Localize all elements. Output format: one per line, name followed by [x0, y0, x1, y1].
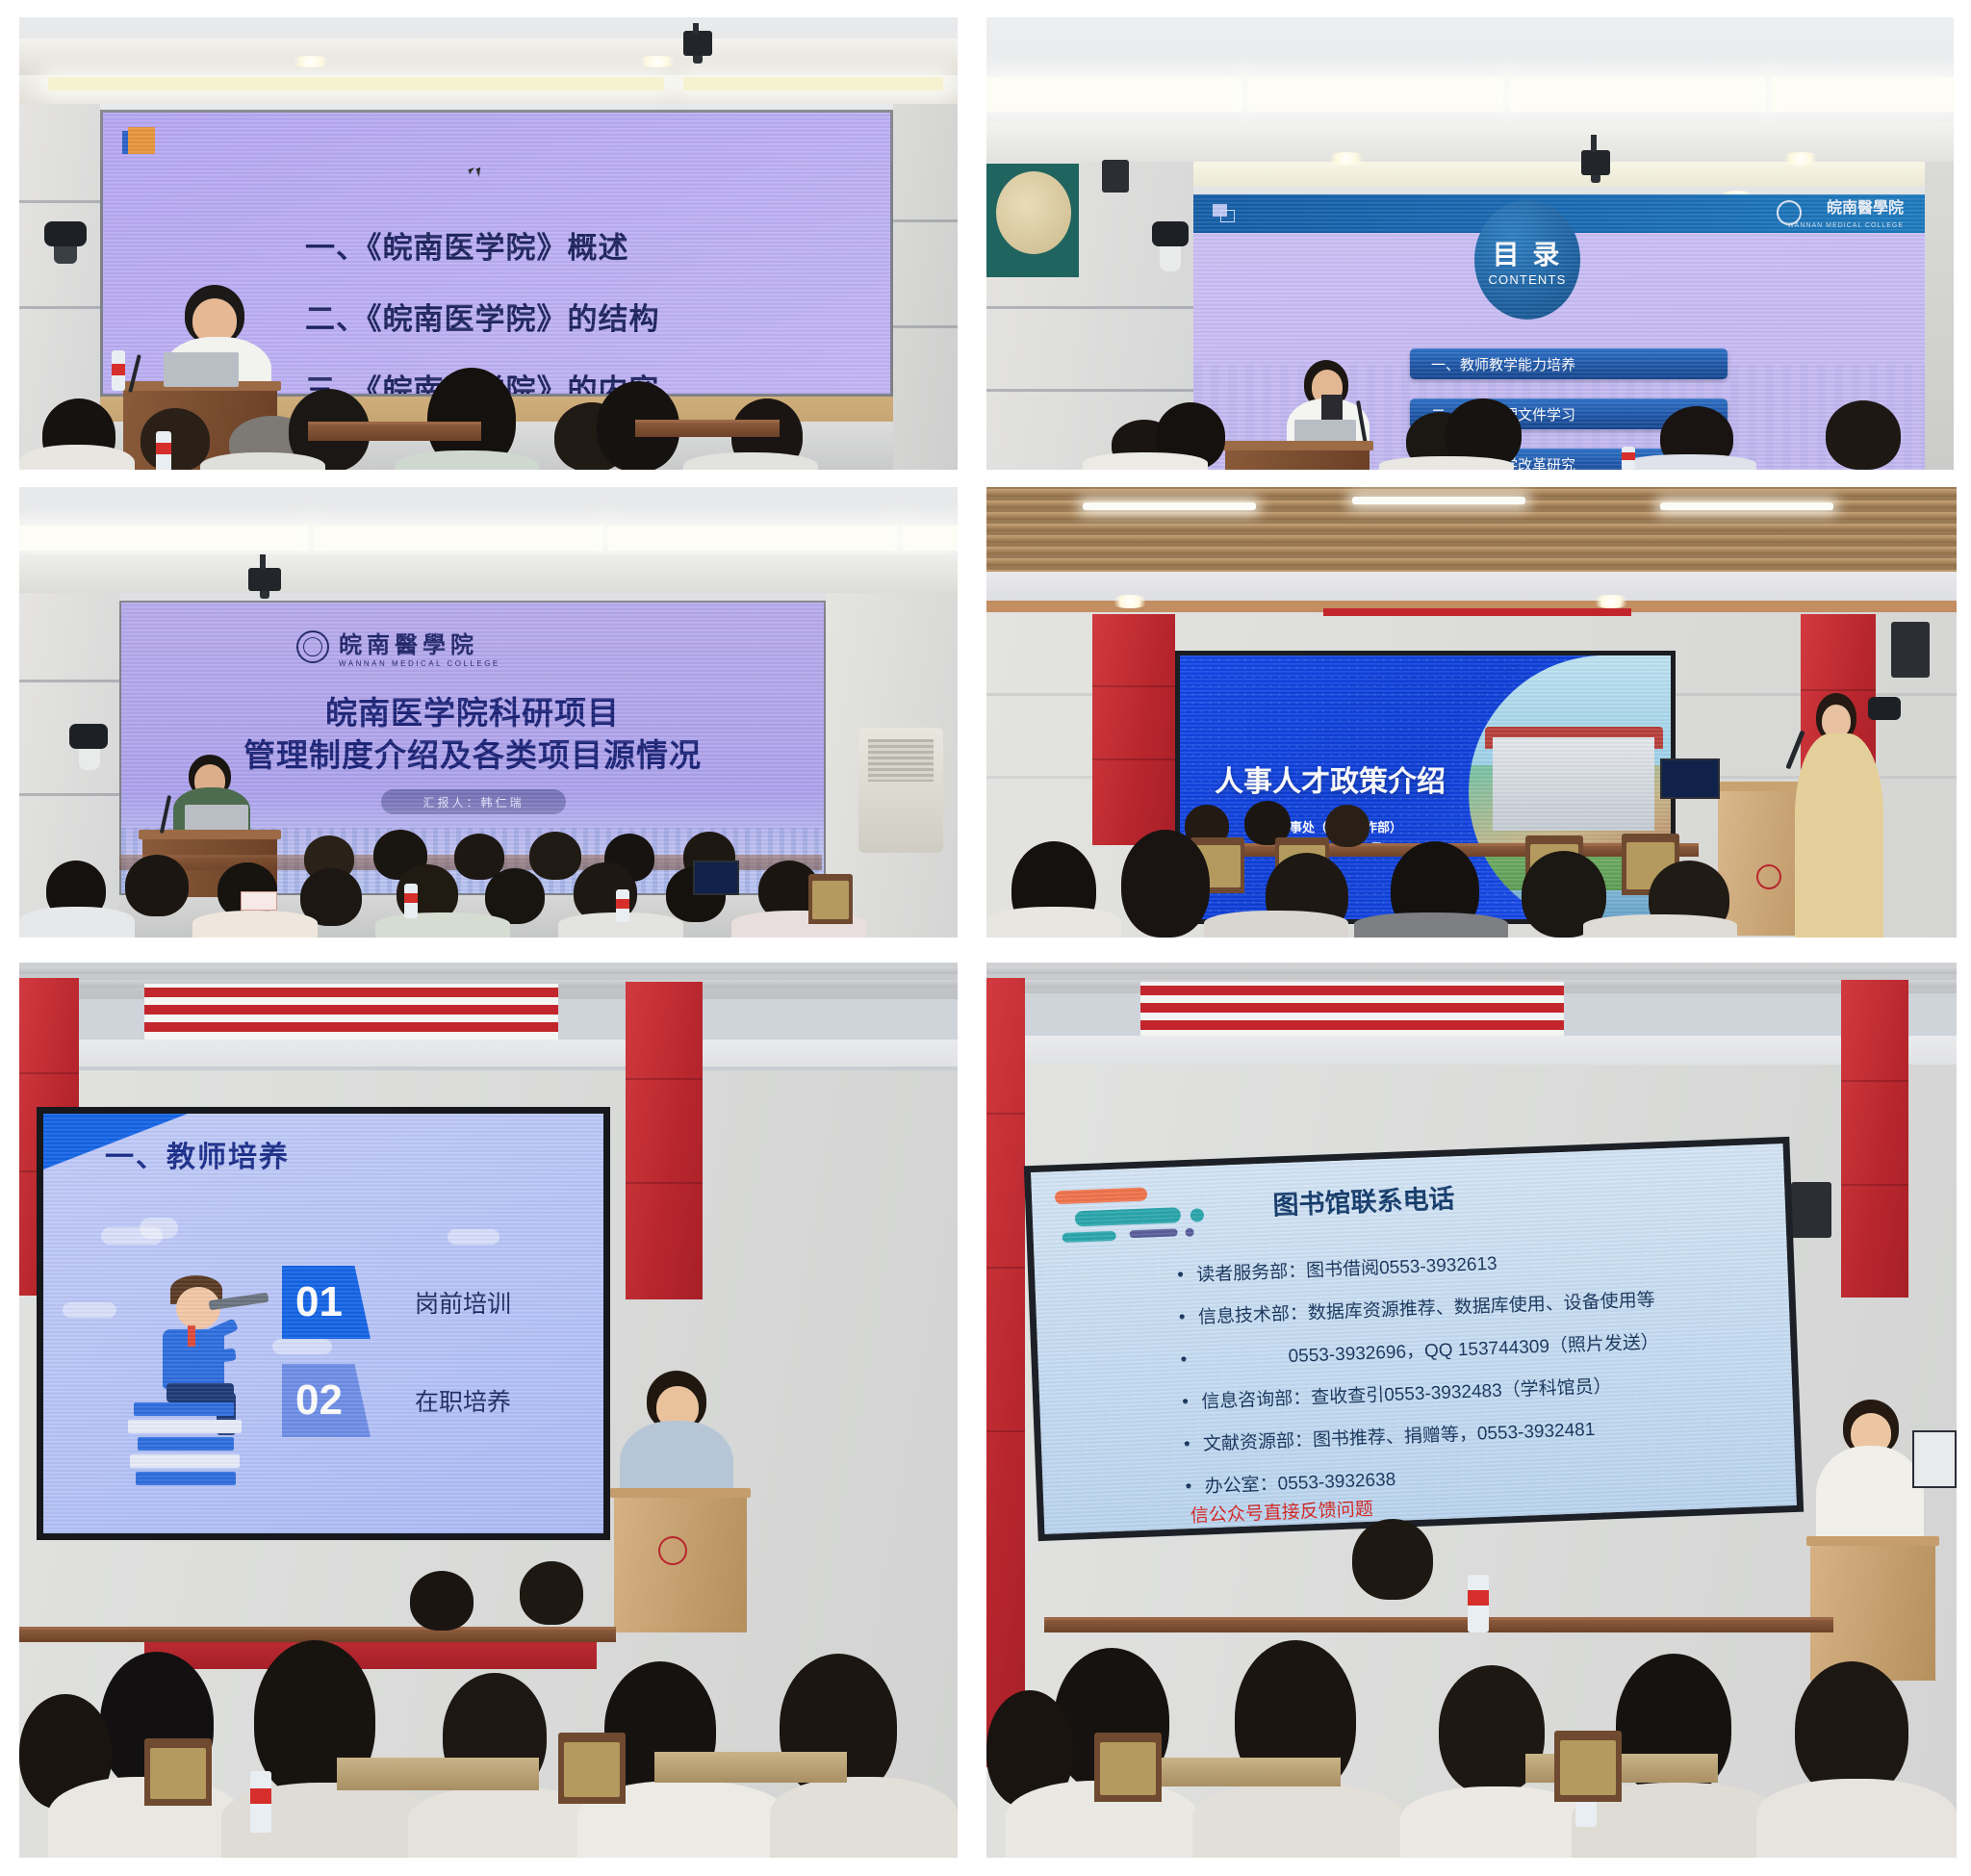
camera-icon: [69, 724, 108, 749]
training-heading: 一、教师培养: [105, 1133, 290, 1175]
speaker-icon: [1102, 160, 1129, 193]
contents-badge-zh: 目 录: [1493, 234, 1563, 272]
panel-top-right: 皖南醫學院 WANNAN MEDICAL COLLEGE 目 录 CONTENT…: [975, 0, 1971, 477]
college-logo-en: WANNAN MEDICAL COLLEGE: [339, 659, 500, 668]
projection-screen: 一、教师培养: [37, 1107, 610, 1540]
projector-icon: [248, 568, 281, 591]
lectern: [1810, 1536, 1935, 1681]
projection-screen: 图书馆联系电话 读者服务部：图书借阅0553-3932613 信息技术部：数据库…: [1024, 1137, 1804, 1541]
outline-line-2: 二、《皖南医学院》的结构: [305, 284, 883, 355]
panel-top-left: 一、《皖南医学院》概述 二、《皖南医学院》的结构 三、《皖南医学院》的内容: [0, 0, 975, 477]
college-logo-zh: 皖南醫學院: [1827, 200, 1904, 217]
decorative-bars: [1055, 1184, 1230, 1241]
contents-badge-en: CONTENTS: [1488, 272, 1566, 287]
outline-list: 一、《皖南医学院》概述 二、《皖南医学院》的结构 三、《皖南医学院》的内容: [305, 213, 883, 397]
camera-icon: [1868, 697, 1901, 720]
training-item-2: 02 在职培养: [282, 1364, 511, 1437]
training-item-1-number: 01: [282, 1266, 371, 1339]
red-pillar-left: [1092, 614, 1175, 845]
hr-slide-title: 人事人才政策介绍: [1215, 758, 1446, 800]
contents-bar-1: 一、教师教学能力培养: [1410, 348, 1728, 379]
speaker-icon: [1791, 1182, 1831, 1238]
orange-square-icon: [128, 127, 155, 154]
window-icon: [1213, 204, 1238, 223]
training-item-1-label: 岗前培训: [415, 1285, 511, 1320]
camera-icon: [44, 221, 87, 246]
training-item-2-label: 在职培养: [415, 1383, 511, 1418]
podium: [1225, 441, 1369, 470]
college-logo: 皖南醫學院 WANNAN MEDICAL COLLEGE: [1787, 200, 1904, 235]
speaker-icon: [1891, 622, 1930, 678]
striped-wall-panel: [1140, 982, 1564, 1036]
panel-bottom-left: 一、教师培养: [0, 947, 975, 1876]
outline-line-3: 三、《皖南医学院》的内容: [305, 355, 883, 397]
slide-title-line1: 皖南医学院科研项目: [121, 687, 824, 733]
library-heading: 图书馆联系电话: [1272, 1177, 1455, 1221]
library-contact-list: 读者服务部：图书借阅0553-3932613 信息技术部：数据库资源推荐、数据库…: [1170, 1237, 1664, 1509]
panel-mid-left: 皖南醫學院 WANNAN MEDICAL COLLEGE 皖南医学院科研项目 管…: [0, 477, 975, 947]
college-logo-zh: 皖南醫學院: [339, 632, 478, 658]
illustration-books: [128, 1402, 243, 1489]
panel-mid-right: 人事人才政策介绍 人事处（教师工作部） 2025年9月12日: [975, 477, 1971, 947]
college-logo: 皖南醫學院 WANNAN MEDICAL COLLEGE: [296, 626, 500, 668]
training-item-1: 01 岗前培训: [282, 1266, 511, 1339]
striped-wall-panel: [144, 984, 558, 1040]
contents-bar-1-label: 一、教师教学能力培养: [1431, 354, 1575, 374]
outline-line-1: 一、《皖南医学院》概述: [305, 213, 883, 284]
contents-badge: 目 录 CONTENTS: [1474, 200, 1580, 320]
panel-bottom-right: 图书馆联系电话 读者服务部：图书借阅0553-3932613 信息技术部：数据库…: [975, 947, 1971, 1876]
college-logo-en: WANNAN MEDICAL COLLEGE: [1787, 218, 1904, 235]
photo-collage: 一、《皖南医学院》概述 二、《皖南医学院》的结构 三、《皖南医学院》的内容: [0, 0, 1971, 1876]
camera-icon: [1152, 221, 1189, 246]
training-item-2-number: 02: [282, 1364, 371, 1437]
projector-icon: [1581, 150, 1610, 175]
